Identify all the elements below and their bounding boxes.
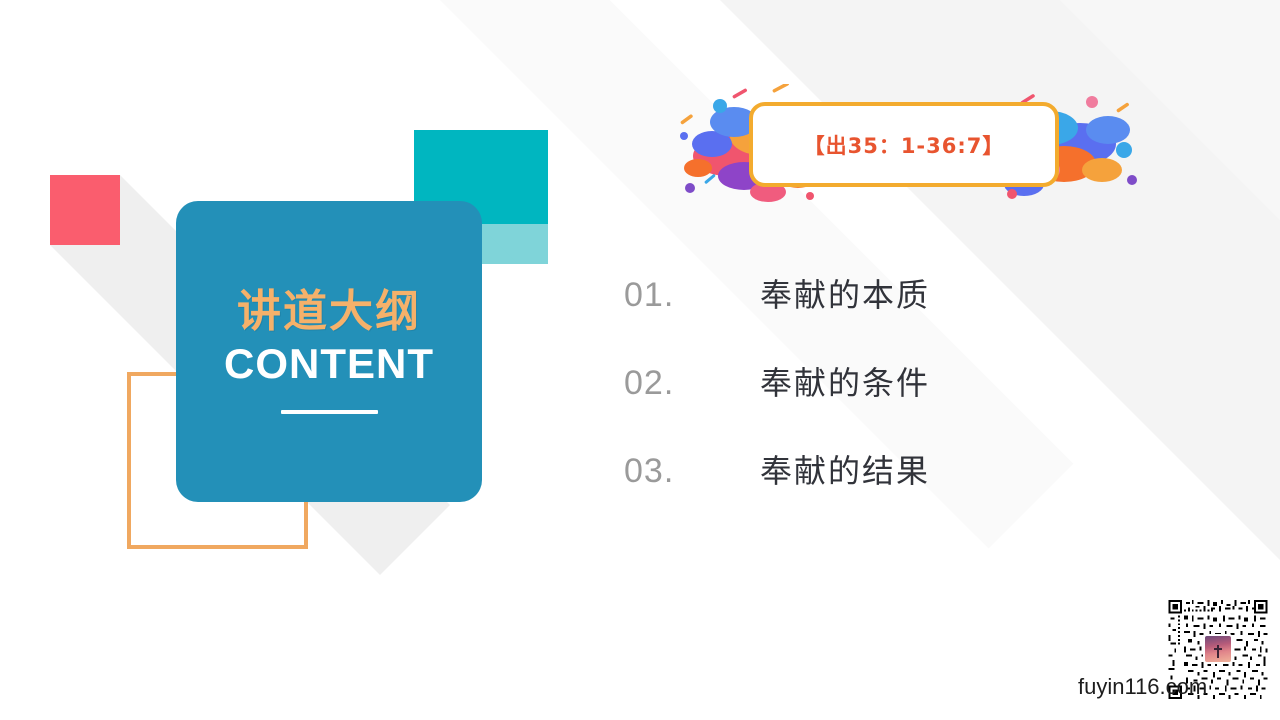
card-title-en: CONTENT bbox=[224, 340, 434, 388]
list-item-label: 奉献的条件 bbox=[760, 358, 930, 404]
card-title-cn: 讲道大纲 bbox=[237, 289, 421, 335]
card-divider bbox=[281, 410, 378, 414]
list-item-label: 奉献的结果 bbox=[760, 446, 930, 492]
list-item[interactable]: 03. 奉献的结果 bbox=[624, 446, 1044, 534]
scripture-badge: 【出35：1-36:7】 bbox=[672, 84, 1142, 206]
list-item[interactable]: 02. 奉献的条件 bbox=[624, 358, 1044, 446]
list-item-number: 03. bbox=[624, 452, 760, 491]
list-item-number: 01. bbox=[624, 276, 760, 315]
scripture-badge-box: 【出35：1-36:7】 bbox=[749, 102, 1059, 187]
cross-icon bbox=[1217, 645, 1219, 658]
site-watermark: fuyin116.com bbox=[1078, 674, 1207, 700]
scripture-reference-text: 【出35：1-36:7】 bbox=[804, 130, 1005, 160]
list-item-label: 奉献的本质 bbox=[760, 270, 930, 316]
qr-center-logo-icon bbox=[1203, 634, 1233, 664]
red-square-decoration bbox=[50, 175, 120, 245]
list-item-number: 02. bbox=[624, 364, 760, 403]
outline-list: 01. 奉献的本质 02. 奉献的条件 03. 奉献的结果 bbox=[624, 270, 1044, 534]
slide-root: 讲道大纲 CONTENT bbox=[0, 0, 1280, 720]
content-card: 讲道大纲 CONTENT bbox=[176, 201, 482, 502]
list-item[interactable]: 01. 奉献的本质 bbox=[624, 270, 1044, 358]
